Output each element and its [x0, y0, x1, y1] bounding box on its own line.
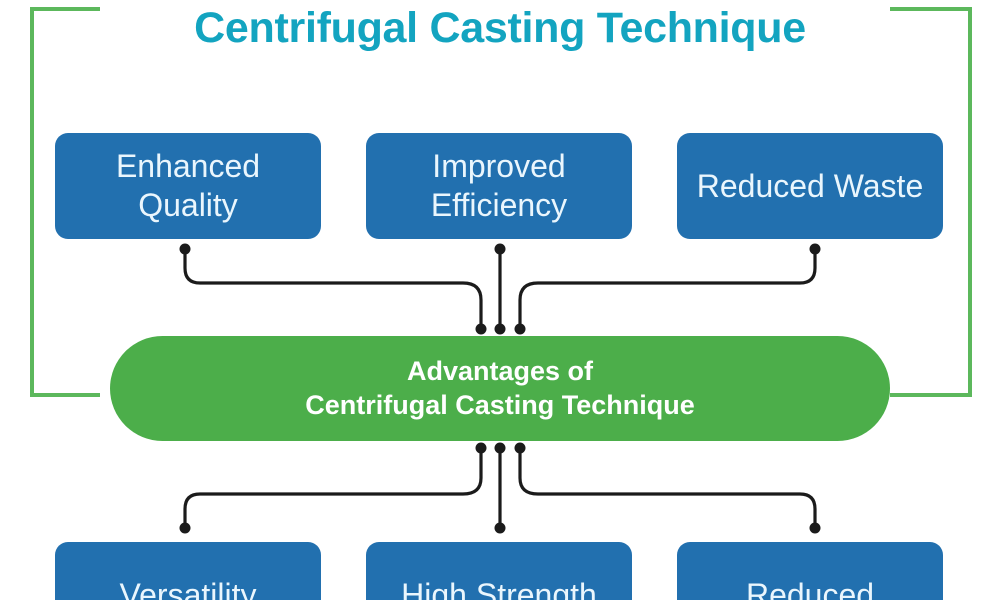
page-title: Advantages of Centrifugal Casting Techni…	[0, 0, 1000, 54]
node-reduced[interactable]: Reduced	[677, 542, 943, 600]
node-reduced-waste[interactable]: Reduced Waste	[677, 133, 943, 239]
node-enhanced-quality[interactable]: Enhanced Quality	[55, 133, 321, 239]
center-hub-capsule[interactable]: Advantages of Centrifugal Casting Techni…	[110, 336, 890, 441]
node-versatility[interactable]: Versatility	[55, 542, 321, 600]
connector-lines	[0, 0, 1000, 600]
node-high-strength[interactable]: High Strength	[366, 542, 632, 600]
center-hub-line-1: Advantages of	[407, 355, 593, 388]
center-hub-line-2: Centrifugal Casting Technique	[305, 388, 695, 422]
node-improved-efficiency[interactable]: Improved Efficiency	[366, 133, 632, 239]
infographic-canvas: Advantages of Centrifugal Casting Techni…	[0, 0, 1000, 600]
